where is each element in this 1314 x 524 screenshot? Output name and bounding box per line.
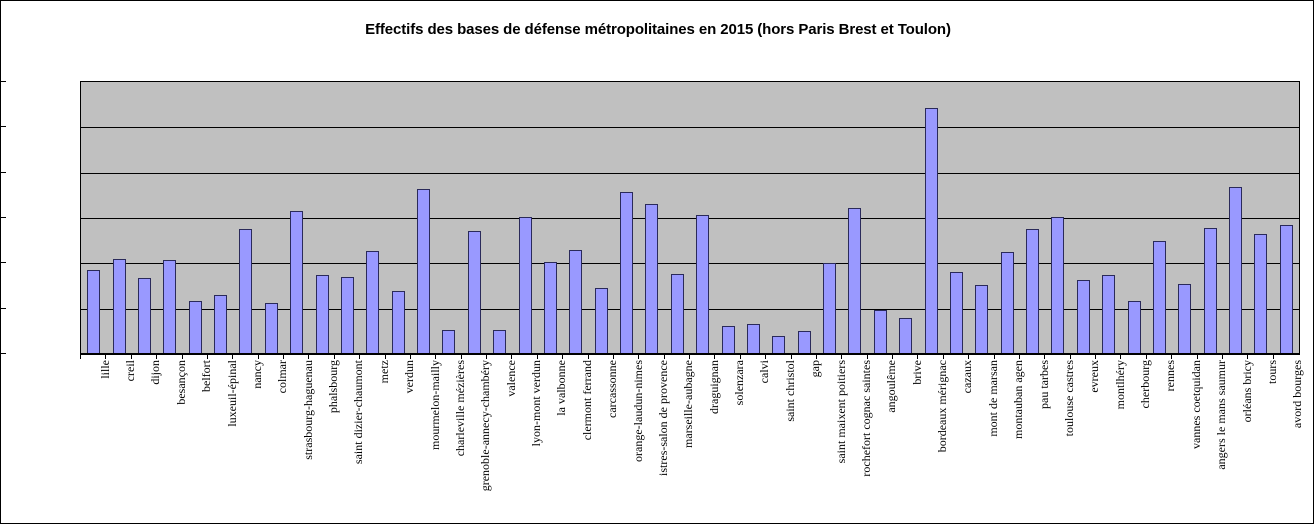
- x-axis-tick-mark: [486, 354, 487, 359]
- x-label-slot: clermont ferrand: [562, 360, 587, 520]
- bar-slot: [157, 82, 182, 354]
- x-tick-slot: [435, 354, 460, 359]
- bar: [1254, 234, 1267, 354]
- y-axis-tick-mark: [1, 262, 6, 263]
- x-label-slot: strasbourg-haguenau: [283, 360, 308, 520]
- x-axis-tick-mark: [537, 354, 538, 359]
- x-label-slot: cazaux: [943, 360, 968, 520]
- bar: [138, 278, 151, 354]
- x-label-slot: lille: [80, 360, 105, 520]
- bar: [747, 324, 760, 354]
- x-label-slot: montlhéry: [1095, 360, 1120, 520]
- x-label-slot: carcassonne: [588, 360, 613, 520]
- bar-slot: [589, 82, 614, 354]
- bar: [341, 277, 354, 354]
- x-label-slot: lyon-mont verdun: [511, 360, 536, 520]
- x-axis-tick-mark: [791, 354, 792, 359]
- x-axis-tick-mark: [867, 354, 868, 359]
- bar: [899, 318, 912, 354]
- x-tick-slot: [105, 354, 130, 359]
- y-axis-tick-mark: [1, 126, 6, 127]
- x-label-slot: dijon: [131, 360, 156, 520]
- x-axis-tick-mark: [765, 354, 766, 359]
- bar: [595, 288, 608, 354]
- x-label-slot: vannes coetquidan: [1171, 360, 1196, 520]
- x-tick-slot: [994, 354, 1019, 359]
- bar-slot: [462, 82, 487, 354]
- x-tick-slot: [1197, 354, 1222, 359]
- bar-slot: [360, 82, 385, 354]
- x-label-slot: saint dizier-chaumont: [334, 360, 359, 520]
- bar: [645, 204, 658, 354]
- bar: [925, 108, 938, 354]
- x-tick-slot: [410, 354, 435, 359]
- chart-container: Effectifs des bases de défense métropoli…: [0, 0, 1314, 524]
- bar: [848, 208, 861, 354]
- bar-slot: [1248, 82, 1273, 354]
- x-tick-slot: [867, 354, 892, 359]
- bar: [975, 285, 988, 354]
- x-axis-tick-mark: [1095, 354, 1096, 359]
- x-axis-tick-mark: [1146, 354, 1147, 359]
- x-label-slot: montauban agen: [994, 360, 1019, 520]
- x-tick-slot: [638, 354, 663, 359]
- x-tick-slot: [1095, 354, 1120, 359]
- y-axis-tick-mark: [1, 308, 6, 309]
- bar-slot: [259, 82, 284, 354]
- x-tick-slot: [334, 354, 359, 359]
- bar-slot: [233, 82, 258, 354]
- bar: [1204, 228, 1217, 354]
- bar: [265, 303, 278, 354]
- x-axis-tick-mark: [638, 354, 639, 359]
- bar-slot: [1223, 82, 1248, 354]
- x-tick-slot: [968, 354, 993, 359]
- x-tick-slot: [258, 354, 283, 359]
- x-axis-tick-mark: [511, 354, 512, 359]
- bar-slot: [1198, 82, 1223, 354]
- bar-slot: [81, 82, 106, 354]
- bar: [620, 192, 633, 354]
- x-axis-tick-mark: [714, 354, 715, 359]
- x-label-slot: draguignan: [689, 360, 714, 520]
- x-axis-tick-mark: [308, 354, 309, 359]
- x-label-slot: creil: [105, 360, 130, 520]
- bar-slot: [817, 82, 842, 354]
- x-label-slot: solenzara: [714, 360, 739, 520]
- x-label-slot: grenoble-annecy-chambéry: [461, 360, 486, 520]
- bar: [239, 229, 252, 354]
- bar: [316, 275, 329, 354]
- bar-slot: [487, 82, 512, 354]
- bar-slot: [969, 82, 994, 354]
- x-axis-tick-mark: [816, 354, 817, 359]
- bar: [1280, 225, 1293, 354]
- x-label-slot: rennes: [1146, 360, 1171, 520]
- x-tick-slot: [588, 354, 613, 359]
- plot-area: [80, 81, 1300, 355]
- x-axis-tick-mark: [1019, 354, 1020, 359]
- x-label-slot: istres-salon de provence: [638, 360, 663, 520]
- x-axis-tick-mark: [994, 354, 995, 359]
- bar-slot: [639, 82, 664, 354]
- x-tick-slot: [359, 354, 384, 359]
- bar: [163, 260, 176, 354]
- bar-series: [81, 82, 1299, 354]
- x-tick-slot: [232, 354, 257, 359]
- x-tick-slot: [1146, 354, 1171, 359]
- bar: [722, 326, 735, 354]
- x-tick-slot: [1273, 354, 1298, 359]
- x-label-slot: angers le mans saumur: [1197, 360, 1222, 520]
- x-label-slot: verdun: [385, 360, 410, 520]
- x-axis-tick-mark: [232, 354, 233, 359]
- x-tick-slot: [841, 354, 866, 359]
- bar: [1051, 217, 1064, 354]
- y-axis-tick-mark: [1, 353, 6, 354]
- x-tick-slot: [385, 354, 410, 359]
- x-tick-slot: [917, 354, 942, 359]
- x-axis-tick-mark: [1171, 354, 1172, 359]
- x-label-slot: toulouse castres: [1044, 360, 1069, 520]
- x-tick-slot: [816, 354, 841, 359]
- x-tick-slot: [765, 354, 790, 359]
- y-axis-tick-mark: [1, 217, 6, 218]
- bar: [569, 250, 582, 354]
- bar-slot: [208, 82, 233, 354]
- x-label-slot: belfort: [182, 360, 207, 520]
- bar: [366, 251, 379, 354]
- bar-slot: [386, 82, 411, 354]
- x-tick-slot: [1120, 354, 1145, 359]
- bar-slot: [436, 82, 461, 354]
- y-axis-tick-mark: [1, 81, 6, 82]
- x-tick-slot: [1247, 354, 1272, 359]
- x-label-slot: evreux: [1070, 360, 1095, 520]
- bar-slot: [563, 82, 588, 354]
- bar-slot: [411, 82, 436, 354]
- chart-title: Effectifs des bases de défense métropoli…: [1, 21, 1314, 38]
- bar: [87, 270, 100, 354]
- bar-slot: [1020, 82, 1045, 354]
- x-axis-tick-mark: [80, 354, 81, 359]
- bar: [1102, 275, 1115, 354]
- bar-slot: [106, 82, 131, 354]
- bar: [1128, 301, 1141, 354]
- bar-slot: [918, 82, 943, 354]
- x-axis-tick-mark: [588, 354, 589, 359]
- x-axis-tick-mark: [968, 354, 969, 359]
- x-tick-slot: [1222, 354, 1247, 359]
- x-tick-slot: [791, 354, 816, 359]
- x-axis-tick-mark: [461, 354, 462, 359]
- x-axis-labels: lillecreildijonbesançonbelfortluxeuil-ép…: [80, 360, 1298, 520]
- x-label-slot: luxeuil-épinal: [207, 360, 232, 520]
- x-axis-tick-mark: [841, 354, 842, 359]
- y-axis-tick-mark: [1, 172, 6, 173]
- x-label-slot: gap: [791, 360, 816, 520]
- x-axis-tick-mark: [1197, 354, 1198, 359]
- bar-slot: [132, 82, 157, 354]
- bar-slot: [183, 82, 208, 354]
- x-axis-tick-mark: [283, 354, 284, 359]
- bar-slot: [1096, 82, 1121, 354]
- x-tick-slot: [943, 354, 968, 359]
- x-tick-slot: [182, 354, 207, 359]
- bar: [1026, 229, 1039, 354]
- bar: [1001, 252, 1014, 354]
- x-label-slot: calvi: [740, 360, 765, 520]
- x-axis-tick-mark: [1120, 354, 1121, 359]
- bar-slot: [995, 82, 1020, 354]
- x-tick-slot: [207, 354, 232, 359]
- x-tick-slot: [537, 354, 562, 359]
- bar-slot: [715, 82, 740, 354]
- bar: [874, 310, 887, 354]
- bar: [468, 231, 481, 354]
- x-axis-tick-mark: [1044, 354, 1045, 359]
- x-label-slot: saint christol: [765, 360, 790, 520]
- x-axis-tick-mark: [410, 354, 411, 359]
- bar-slot: [944, 82, 969, 354]
- x-axis-tick-mark: [1273, 354, 1274, 359]
- bar: [392, 291, 405, 354]
- x-axis-tick-mark: [258, 354, 259, 359]
- x-label-slot: pau tarbes: [1019, 360, 1044, 520]
- x-axis-tick-mark: [1222, 354, 1223, 359]
- x-axis-tick-label: avord bourges: [1291, 360, 1303, 428]
- x-label-slot: brive: [892, 360, 917, 520]
- x-tick-slot: [664, 354, 689, 359]
- x-axis-tick-mark: [334, 354, 335, 359]
- x-axis-tick-mark: [156, 354, 157, 359]
- x-label-slot: orange-laudun-nimes: [613, 360, 638, 520]
- bar: [417, 189, 430, 354]
- bar: [442, 330, 455, 354]
- bar-slot: [1274, 82, 1299, 354]
- bar-slot: [614, 82, 639, 354]
- bar-slot: [512, 82, 537, 354]
- x-label-slot: colmar: [258, 360, 283, 520]
- bar-slot: [538, 82, 563, 354]
- x-axis-tick-mark: [385, 354, 386, 359]
- x-label-slot: la valbonne: [537, 360, 562, 520]
- x-tick-slot: [486, 354, 511, 359]
- x-axis-tick-mark: [1247, 354, 1248, 359]
- bar-slot: [893, 82, 918, 354]
- x-label-slot: orléans bricy: [1222, 360, 1247, 520]
- x-axis-tick-mark: [182, 354, 183, 359]
- bar-slot: [741, 82, 766, 354]
- x-axis-tick-mark: [359, 354, 360, 359]
- bar-slot: [1045, 82, 1070, 354]
- bar-slot: [1071, 82, 1096, 354]
- bar: [772, 336, 785, 354]
- x-label-slot: nancy: [232, 360, 257, 520]
- bar-slot: [868, 82, 893, 354]
- y-axis: 020004000600080001000012000: [1, 1, 80, 523]
- bar: [290, 211, 303, 354]
- x-tick-slot: [511, 354, 536, 359]
- x-tick-slot: [80, 354, 105, 359]
- x-axis-tick-mark: [105, 354, 106, 359]
- x-label-slot: marseille-aubagne: [664, 360, 689, 520]
- x-tick-slot: [1171, 354, 1196, 359]
- bar-slot: [665, 82, 690, 354]
- x-label-slot: phalsbourg: [308, 360, 333, 520]
- x-tick-slot: [1019, 354, 1044, 359]
- bar: [1178, 284, 1191, 354]
- x-axis-tick-mark: [562, 354, 563, 359]
- x-label-slot: tours: [1247, 360, 1272, 520]
- x-label-slot: cherbourg: [1120, 360, 1145, 520]
- bar: [671, 274, 684, 354]
- x-label-slot: avord bourges: [1273, 360, 1298, 520]
- bar-slot: [792, 82, 817, 354]
- bar: [696, 215, 709, 354]
- bar: [189, 301, 202, 354]
- x-label-slot: bordeaux mérignac: [917, 360, 942, 520]
- bar: [1077, 280, 1090, 354]
- x-label-slot: mourmelon-mailly: [410, 360, 435, 520]
- x-axis-ticks: [80, 354, 1298, 359]
- x-axis-tick-mark: [943, 354, 944, 359]
- x-tick-slot: [461, 354, 486, 359]
- x-label-slot: besançon: [156, 360, 181, 520]
- bar: [1153, 241, 1166, 354]
- x-tick-slot: [156, 354, 181, 359]
- bar-slot: [284, 82, 309, 354]
- bar: [493, 330, 506, 354]
- bar-slot: [335, 82, 360, 354]
- x-tick-slot: [892, 354, 917, 359]
- x-tick-slot: [562, 354, 587, 359]
- x-label-slot: valence: [486, 360, 511, 520]
- bar-slot: [1121, 82, 1146, 354]
- bar-slot: [309, 82, 334, 354]
- x-axis-tick-mark: [689, 354, 690, 359]
- x-tick-slot: [1044, 354, 1069, 359]
- bar-slot: [766, 82, 791, 354]
- x-tick-slot: [283, 354, 308, 359]
- bar: [214, 295, 227, 354]
- bar-slot: [1172, 82, 1197, 354]
- x-tick-slot: [613, 354, 638, 359]
- x-tick-slot: [740, 354, 765, 359]
- x-axis-tick-mark: [740, 354, 741, 359]
- x-label-slot: saint maixent poitiers: [816, 360, 841, 520]
- x-axis-tick-mark: [207, 354, 208, 359]
- x-axis-tick-mark: [664, 354, 665, 359]
- bar: [950, 272, 963, 354]
- x-label-slot: rochefort cognac saintes: [841, 360, 866, 520]
- x-axis-tick-mark: [917, 354, 918, 359]
- bar: [519, 217, 532, 354]
- bar: [798, 331, 811, 354]
- x-label-slot: metz: [359, 360, 384, 520]
- x-tick-slot: [714, 354, 739, 359]
- bar: [1229, 187, 1242, 354]
- bar-slot: [690, 82, 715, 354]
- bar: [823, 263, 836, 354]
- x-tick-slot: [1070, 354, 1095, 359]
- bar: [113, 259, 126, 354]
- x-label-slot: charleville mézières: [435, 360, 460, 520]
- x-axis-tick-mark: [613, 354, 614, 359]
- bar: [544, 262, 557, 354]
- x-label-slot: angoulême: [867, 360, 892, 520]
- x-label-slot: mont de marsan: [968, 360, 993, 520]
- x-axis-tick-mark: [892, 354, 893, 359]
- x-tick-slot: [308, 354, 333, 359]
- x-axis-tick-mark: [1070, 354, 1071, 359]
- x-tick-slot: [131, 354, 156, 359]
- x-axis-tick-mark: [131, 354, 132, 359]
- bar-slot: [1147, 82, 1172, 354]
- bar-slot: [842, 82, 867, 354]
- x-axis-tick-mark: [435, 354, 436, 359]
- x-tick-slot: [689, 354, 714, 359]
